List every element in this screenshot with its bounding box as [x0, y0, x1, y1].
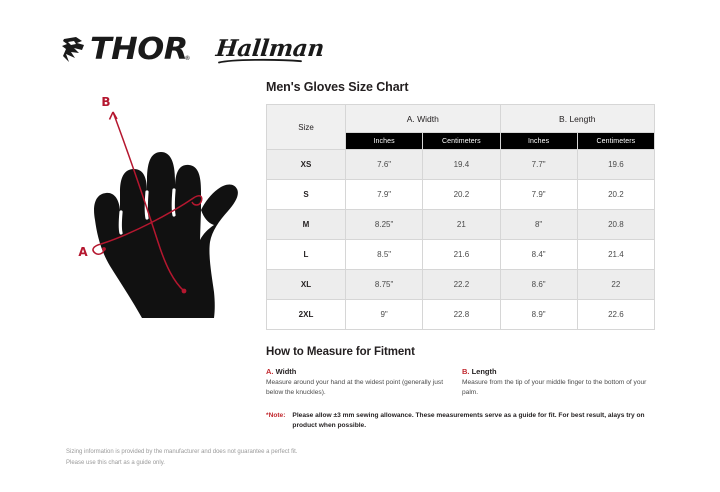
measure-item-length-heading: B. Length	[462, 367, 658, 376]
column-header-size: Size	[267, 105, 346, 150]
how-to-measure-columns: A. Width Measure around your hand at the…	[266, 367, 658, 398]
column-header-width-centimeters: Centimeters	[423, 133, 500, 150]
cell-width-centimeters: 21.6	[423, 240, 500, 270]
note-text: Please allow ±3 mm sewing allowance. The…	[292, 411, 650, 431]
cell-width-inches: 8.25"	[346, 210, 423, 240]
how-to-measure-section: How to Measure for Fitment A. Width Meas…	[266, 346, 658, 431]
cell-width-inches: 9"	[346, 300, 423, 330]
table-head: Size A. Width B. Length Inches Centimete…	[267, 105, 655, 150]
measure-item-length: B. Length Measure from the tip of your m…	[462, 367, 658, 398]
hallman-logo: Hallman	[216, 37, 324, 64]
column-group-length: B. Length	[500, 105, 655, 133]
hallman-swash-icon	[218, 58, 302, 64]
chart-column: Men's Gloves Size Chart Size A. Width B.…	[266, 80, 658, 431]
cell-length-centimeters: 20.2	[577, 180, 654, 210]
length-arrow-head	[110, 112, 118, 120]
table-body: XS 7.6" 19.4 7.7" 19.6 S 7.9" 20.2 7.9" …	[267, 150, 655, 330]
how-to-measure-title: How to Measure for Fitment	[266, 346, 658, 358]
cell-size: 2XL	[267, 300, 346, 330]
cell-size: XL	[267, 270, 346, 300]
cell-size: XS	[267, 150, 346, 180]
measure-item-width: A. Width Measure around your hand at the…	[266, 367, 462, 398]
cell-length-inches: 8"	[500, 210, 577, 240]
cell-width-inches: 8.5"	[346, 240, 423, 270]
cell-length-inches: 7.9"	[500, 180, 577, 210]
hand-measurement-diagram: B A	[62, 92, 262, 322]
size-chart-table: Size A. Width B. Length Inches Centimete…	[266, 104, 655, 330]
cell-length-inches: 8.4"	[500, 240, 577, 270]
cell-length-centimeters: 22.6	[577, 300, 654, 330]
hallman-logo-text: Hallman	[214, 37, 324, 60]
cell-width-inches: 7.6"	[346, 150, 423, 180]
cell-length-centimeters: 21.4	[577, 240, 654, 270]
cell-length-inches: 8.6"	[500, 270, 577, 300]
thor-logo-text: THOR	[90, 35, 188, 65]
table-row: XL 8.75" 22.2 8.6" 22	[267, 270, 655, 300]
cell-width-centimeters: 21	[423, 210, 500, 240]
cell-size: M	[267, 210, 346, 240]
cell-width-centimeters: 19.4	[423, 150, 500, 180]
thor-logo: THOR ®	[62, 35, 190, 65]
size-chart-page: THOR ® Hallman	[0, 0, 720, 492]
measure-desc-length: Measure from the tip of your middle fing…	[462, 378, 658, 398]
table-row: 2XL 9" 22.8 8.9" 22.6	[267, 300, 655, 330]
cell-width-centimeters: 20.2	[423, 180, 500, 210]
footer-line-2: Please use this chart as a guide only.	[66, 458, 396, 469]
table-head-row-groups: Size A. Width B. Length	[267, 105, 655, 133]
length-end-dot	[182, 289, 187, 294]
footer-disclaimer: Sizing information is provided by the ma…	[66, 447, 396, 468]
cell-length-centimeters: 20.8	[577, 210, 654, 240]
cell-length-inches: 8.9"	[500, 300, 577, 330]
diagram-label-b: B	[101, 95, 110, 109]
cell-length-centimeters: 19.6	[577, 150, 654, 180]
table-row: S 7.9" 20.2 7.9" 20.2	[267, 180, 655, 210]
table-row: M 8.25" 21 8" 20.8	[267, 210, 655, 240]
column-header-length-inches: Inches	[500, 133, 577, 150]
column-group-width: A. Width	[346, 105, 501, 133]
width-end-dot	[102, 247, 106, 251]
column-header-width-inches: Inches	[346, 133, 423, 150]
cell-width-centimeters: 22.8	[423, 300, 500, 330]
measure-item-width-heading: A. Width	[266, 367, 452, 376]
cell-length-inches: 7.7"	[500, 150, 577, 180]
page-title: Men's Gloves Size Chart	[266, 80, 658, 94]
measure-desc-width: Measure around your hand at the widest p…	[266, 378, 452, 398]
diagram-label-a: A	[78, 245, 88, 259]
measure-name-width: Width	[276, 367, 297, 376]
cell-size: S	[267, 180, 346, 210]
cell-width-centimeters: 22.2	[423, 270, 500, 300]
measure-name-length: Length	[472, 367, 497, 376]
hand-silhouette-icon	[94, 152, 238, 318]
cell-width-inches: 7.9"	[346, 180, 423, 210]
cell-length-centimeters: 22	[577, 270, 654, 300]
footer-line-1: Sizing information is provided by the ma…	[66, 447, 396, 458]
table-row: L 8.5" 21.6 8.4" 21.4	[267, 240, 655, 270]
measure-letter-b: B.	[462, 367, 470, 376]
note-row: *Note: Please allow ±3 mm sewing allowan…	[266, 411, 658, 431]
thor-hammer-icon	[62, 36, 88, 64]
hand-diagram-svg: B A	[62, 92, 262, 322]
cell-width-inches: 8.75"	[346, 270, 423, 300]
note-label: *Note:	[266, 411, 285, 421]
column-header-length-centimeters: Centimeters	[577, 133, 654, 150]
brand-logo-bar: THOR ® Hallman	[62, 28, 282, 72]
cell-size: L	[267, 240, 346, 270]
table-row: XS 7.6" 19.4 7.7" 19.6	[267, 150, 655, 180]
measure-letter-a: A.	[266, 367, 274, 376]
